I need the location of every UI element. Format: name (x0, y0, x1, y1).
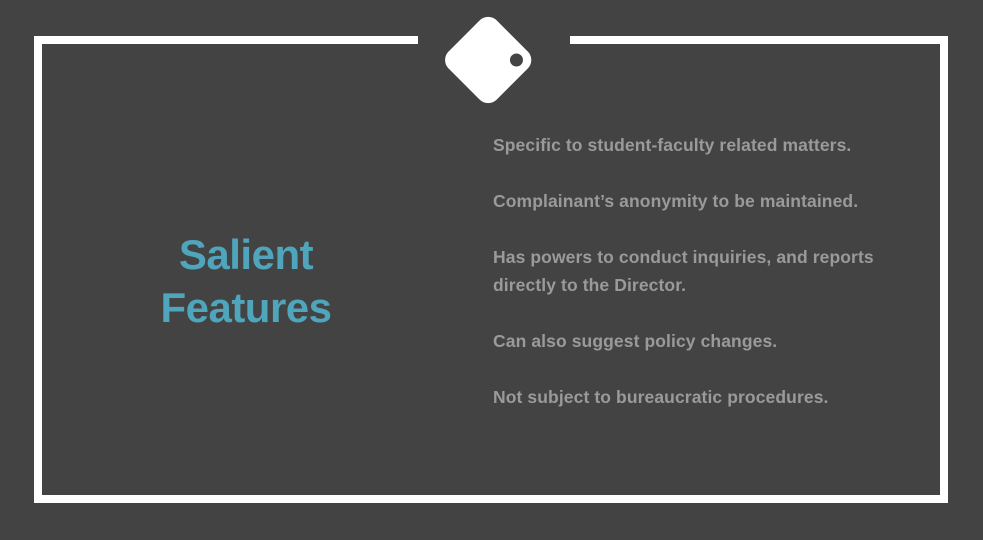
frame-border-top-right (570, 36, 948, 44)
frame-border-top-left (34, 36, 418, 44)
slide-canvas: Salient Features Specific to student-fac… (0, 0, 983, 540)
list-item: Not subject to bureaucratic procedures. (493, 383, 923, 411)
page-title: Salient Features (60, 228, 432, 334)
frame-border-right (940, 36, 948, 503)
tag-icon (443, 12, 539, 108)
bullet-list: Specific to student-faculty related matt… (493, 131, 923, 411)
frame-border-left (34, 36, 42, 503)
list-item: Can also suggest policy changes. (493, 327, 923, 355)
list-item: Complainant’s anonymity to be maintained… (493, 187, 923, 215)
page-title-line-1: Salient (60, 228, 432, 281)
list-item: Has powers to conduct inquiries, and rep… (493, 243, 923, 299)
list-item: Specific to student-faculty related matt… (493, 131, 923, 159)
page-title-line-2: Features (60, 281, 432, 334)
frame-border-bottom (34, 495, 948, 503)
